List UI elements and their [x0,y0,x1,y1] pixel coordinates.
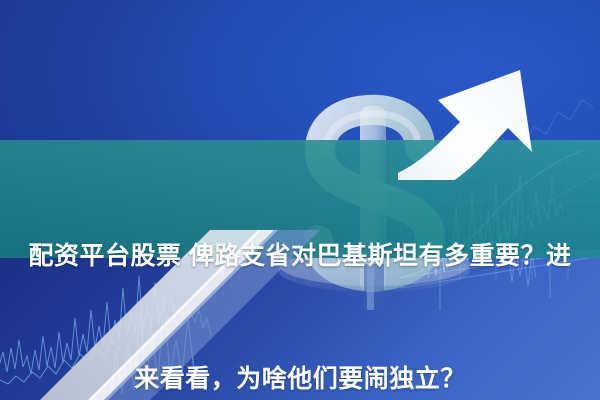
headline-line-1: 配资平台股票 俾路支省对巴基斯坦有多重要？进 [8,236,592,277]
headline-line-2: 来看看，为啥他们要闹独立？ [8,359,592,400]
banner-image: 配资平台股票 俾路支省对巴基斯坦有多重要？进 来看看，为啥他们要闹独立？ [0,0,600,400]
page-title: 配资平台股票 俾路支省对巴基斯坦有多重要？进 来看看，为啥他们要闹独立？ [0,154,600,400]
